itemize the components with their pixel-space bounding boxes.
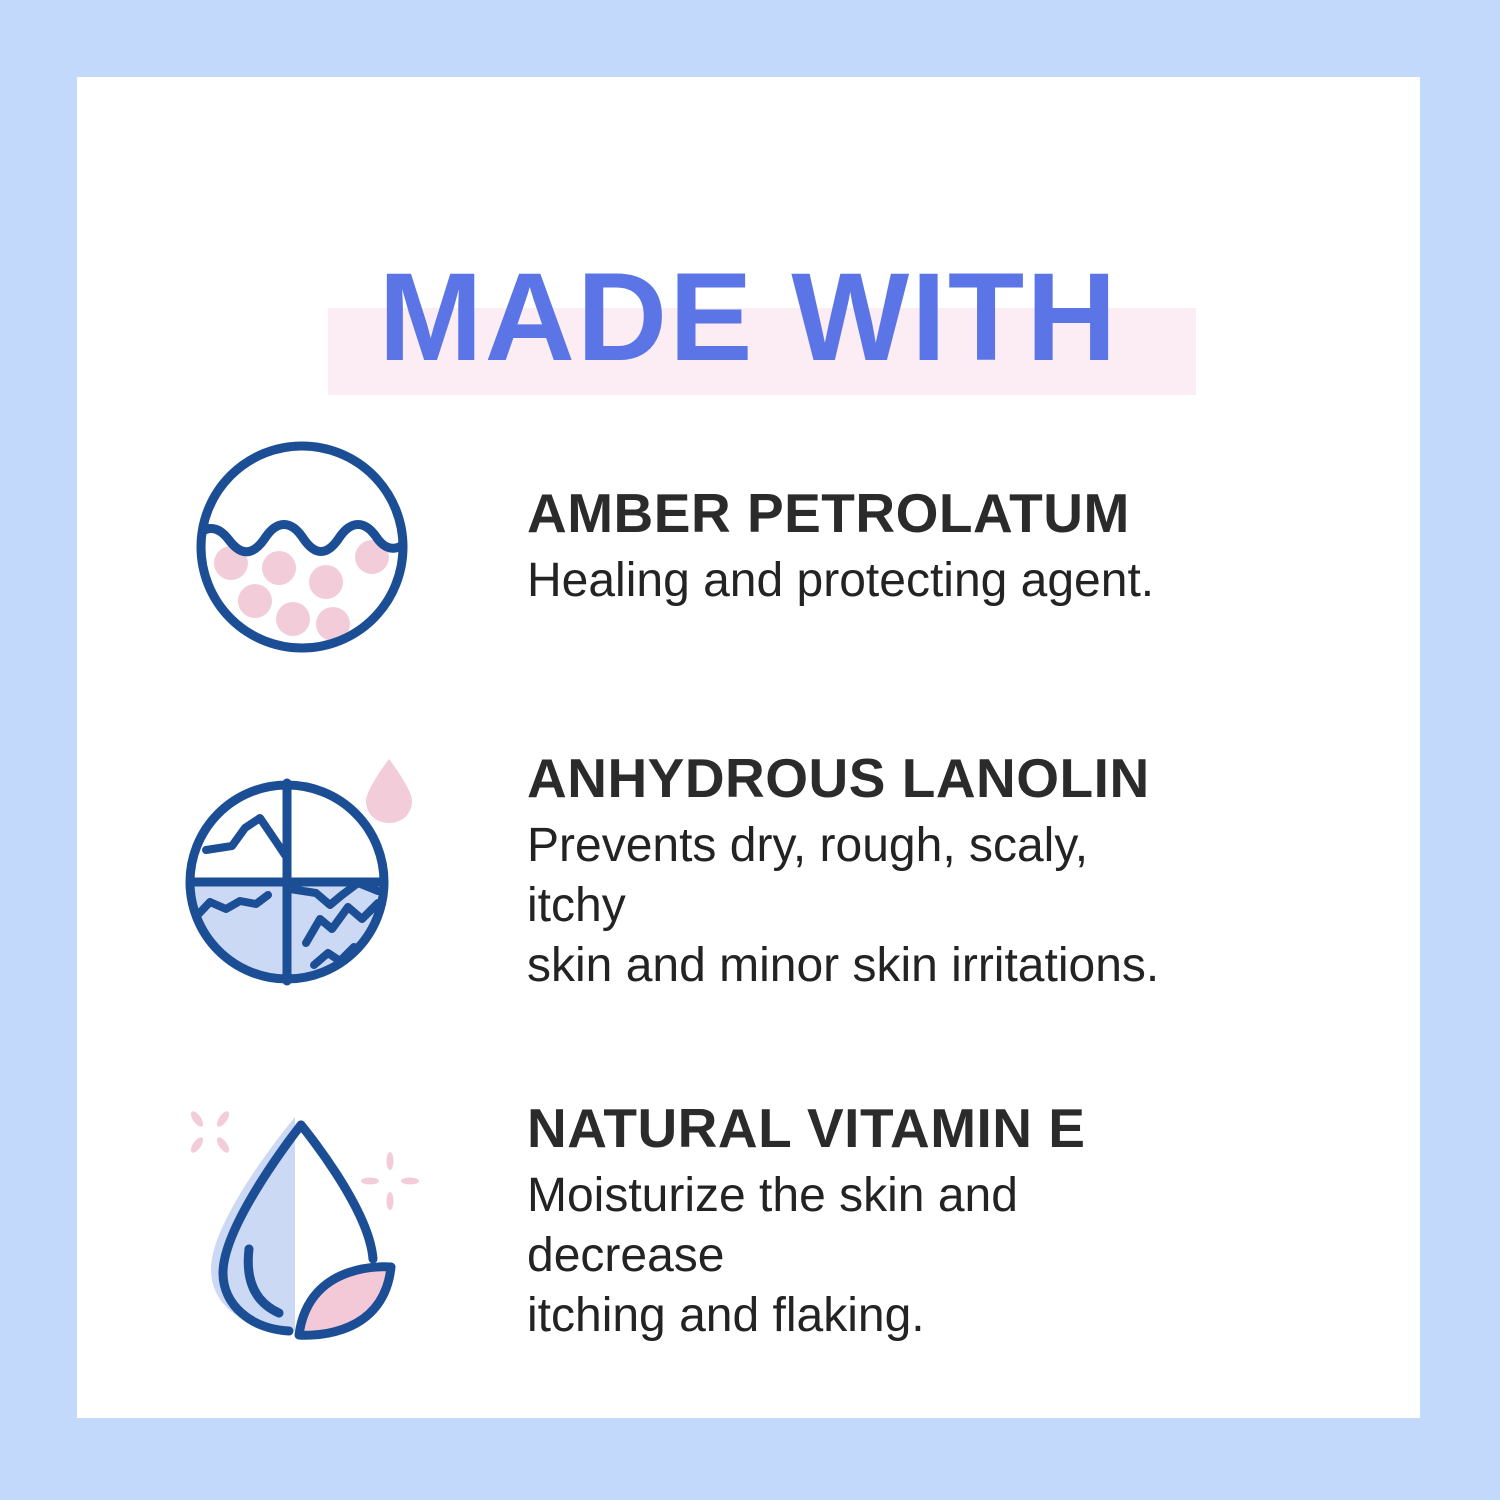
ingredient-name: ANHYDROUS LANOLIN — [527, 748, 1360, 808]
poster-frame: MADE WITH — [0, 0, 1500, 1500]
sparkle-icon — [361, 1152, 419, 1210]
droplet-leaf-icon — [177, 1097, 427, 1347]
description-line: Prevents dry, rough, scaly, itchy — [527, 816, 1187, 936]
page-title: MADE WITH — [77, 255, 1420, 380]
ingredient-row: ANHYDROUS LANOLIN Prevents dry, rough, s… — [77, 697, 1420, 1047]
ingredient-description: Prevents dry, rough, scaly, itchy skin a… — [527, 816, 1187, 996]
ingredient-icon-cell — [77, 1097, 527, 1347]
ingredient-icon-cell — [77, 747, 527, 997]
content-panel: MADE WITH — [77, 77, 1420, 1418]
description-line: skin and minor skin irritations. — [527, 936, 1187, 996]
sparkle-icon — [189, 1109, 232, 1154]
ingredient-text-cell: AMBER PETROLATUM Healing and protecting … — [527, 483, 1420, 611]
description-line: itching and flaking. — [527, 1286, 1187, 1346]
ingredient-name: NATURAL VITAMIN E — [527, 1098, 1360, 1158]
ingredient-description: Moisturize the skin and decrease itching… — [527, 1166, 1187, 1346]
liquid-circle-icon — [187, 432, 417, 662]
ingredient-row: AMBER PETROLATUM Healing and protecting … — [77, 397, 1420, 697]
ingredient-text-cell: NATURAL VITAMIN E Moisturize the skin an… — [527, 1098, 1420, 1346]
ingredient-text-cell: ANHYDROUS LANOLIN Prevents dry, rough, s… — [527, 748, 1420, 996]
title-block: MADE WITH — [77, 167, 1420, 407]
ingredient-description: Healing and protecting agent. — [527, 551, 1187, 611]
cracked-skin-circle-icon — [182, 747, 422, 997]
ingredient-name: AMBER PETROLATUM — [527, 483, 1360, 543]
ingredient-row: NATURAL VITAMIN E Moisturize the skin an… — [77, 1047, 1420, 1397]
description-line: Moisturize the skin and decrease — [527, 1166, 1187, 1286]
description-line: Healing and protecting agent. — [527, 551, 1187, 611]
ingredient-icon-cell — [77, 432, 527, 662]
